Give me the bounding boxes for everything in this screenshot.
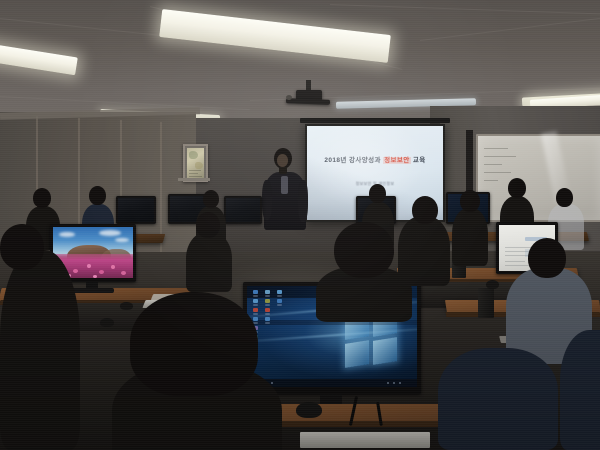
projector-lens [286,95,292,100]
classroom-photo: 2018년 강사양성과 정보보안 교육 정보보안 및 개인정보 교 육 [0,0,600,450]
presenter-shirt [281,176,288,194]
attendee-head [528,238,566,278]
attendee-head [508,178,526,198]
whiteboard-writing [484,164,502,165]
desktop-icon[interactable] [277,299,282,303]
whiteboard-writing [484,156,516,157]
attendee-mid-right-2 [452,208,488,266]
presenter-arm-left [262,180,272,220]
framed-poster [183,144,208,182]
taskbar-icon[interactable] [271,382,273,384]
attendee-head [460,190,480,212]
wall-panel-seam [160,122,162,252]
attendee-head [412,196,438,224]
desktop-icon[interactable] [253,308,258,312]
attendee-mid-right-3 [560,330,600,450]
desktop-icon[interactable] [253,299,258,303]
attendee-head [369,184,386,203]
monitor-screen [118,198,154,222]
pc-tower [478,288,494,318]
desktop-icon[interactable] [265,290,270,294]
mouse [120,302,133,310]
attendee-head [89,186,106,205]
presenter-arm-right [298,180,308,222]
desktop-icon[interactable] [253,290,258,294]
desktop-icon[interactable] [277,290,282,294]
attendee-head [556,188,573,207]
keyboard-foreground[interactable] [300,432,430,448]
wall-shelf [178,178,210,181]
whiteboard [476,134,600,222]
attendee-head [203,190,219,208]
system-tray-icon[interactable] [399,382,401,384]
mouse [486,280,499,289]
windows-logo-pane [345,340,369,368]
windows-logo-pane [373,337,397,365]
whiteboard-writing [484,148,508,149]
desktop-icon[interactable] [265,299,270,303]
system-tray-icon[interactable] [393,382,395,384]
poster-artwork [187,148,204,178]
mouse [296,402,322,418]
attendee-head [33,188,51,208]
attendee-head [196,212,220,238]
projection-screen-case [300,118,450,123]
attendee-foreground-4 [398,216,450,286]
attendee-head-foreground-3 [0,224,44,270]
monitor-off-3 [224,196,262,224]
mouse [100,318,114,327]
attendee-head-foreground-2 [334,222,394,278]
presenter-neck [279,167,287,174]
monitor-base [72,288,114,293]
desktop-icon[interactable] [265,317,270,321]
system-tray-icon[interactable] [387,382,389,384]
monitor-screen [226,198,260,222]
attendee-foreground-5 [186,232,232,292]
whiteboard-writing [484,172,511,173]
presenter-face [277,154,288,167]
whiteboard-writing [484,180,498,181]
monitor-off-1 [116,196,156,224]
desktop-icon[interactable] [265,308,270,312]
attendee-foreground-6 [438,348,558,450]
attendee-foreground-3 [0,250,80,450]
attendee-head-foreground-1 [130,292,258,396]
desktop-icon[interactable] [253,317,258,321]
